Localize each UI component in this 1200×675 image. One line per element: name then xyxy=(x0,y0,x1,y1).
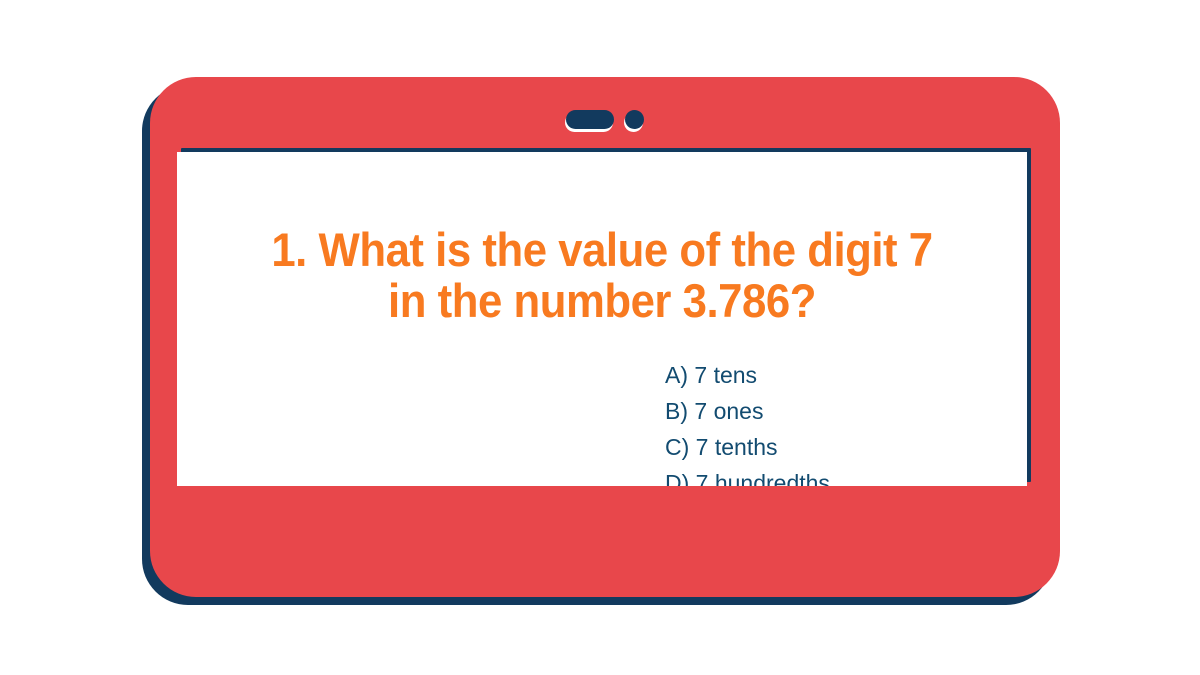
question-title: 1. What is the value of the digit 7 in t… xyxy=(207,224,998,326)
camera-lens-icon xyxy=(625,110,644,129)
answer-option-d[interactable]: D) 7 hundredths xyxy=(665,465,1005,486)
tablet-screen: 1. What is the value of the digit 7 in t… xyxy=(177,152,1027,486)
answer-option-a[interactable]: A) 7 tens xyxy=(665,357,1005,393)
screen-content: 1. What is the value of the digit 7 in t… xyxy=(177,152,1027,486)
tablet-hardware-row xyxy=(150,103,1060,135)
tablet-illustration: 1. What is the value of the digit 7 in t… xyxy=(150,77,1060,597)
speaker-grille-icon xyxy=(566,110,614,129)
answer-options-list: A) 7 tens B) 7 ones C) 7 tenths D) 7 hun… xyxy=(665,357,1005,486)
answer-option-c[interactable]: C) 7 tenths xyxy=(665,429,1005,465)
answer-option-b[interactable]: B) 7 ones xyxy=(665,393,1005,429)
slide-canvas: 1. What is the value of the digit 7 in t… xyxy=(0,0,1200,675)
